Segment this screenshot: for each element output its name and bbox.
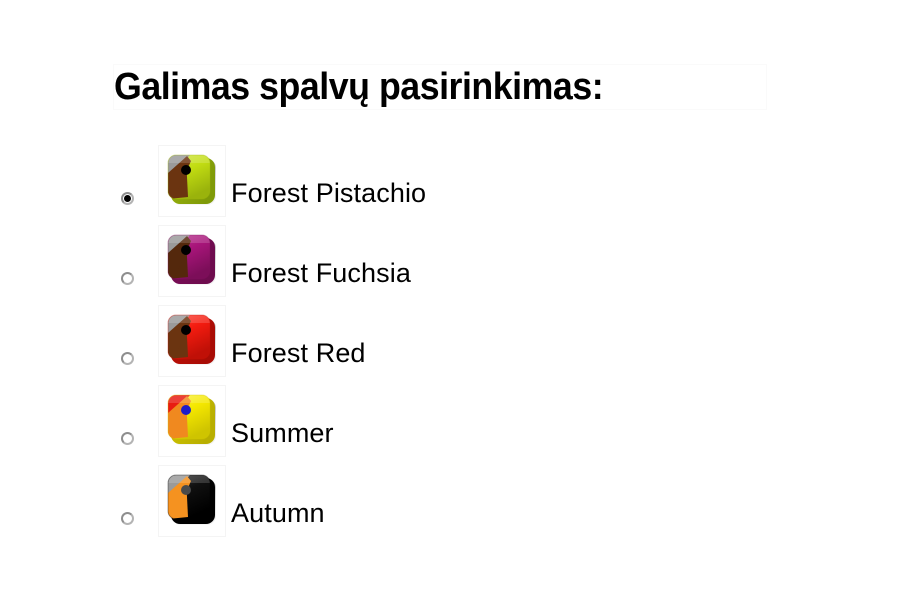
swatch-cell-summer: [158, 385, 226, 457]
swatch-graphic: [166, 313, 220, 369]
swatch-cell-forest-red: [158, 305, 226, 377]
color-swatch-forest-pistachio-icon: [166, 153, 220, 209]
radio-forest-fuchsia[interactable]: [121, 272, 134, 285]
swatch-graphic: [166, 473, 220, 529]
label-autumn: Autumn: [231, 498, 325, 528]
color-swatch-forest-red-icon: [166, 313, 220, 369]
swatch-graphic: [166, 153, 220, 209]
color-swatch-forest-fuchsia-icon: [166, 233, 220, 289]
color-option-row-summer[interactable]: Summer: [0, 380, 923, 460]
page-title-text: Galimas spalvų pasirinkimas:: [114, 67, 603, 107]
color-option-row-autumn[interactable]: Autumn: [0, 460, 923, 540]
swatch-cell-forest-pistachio: [158, 145, 226, 217]
color-option-row-forest-fuchsia[interactable]: Forest Fuchsia: [0, 220, 923, 300]
color-swatch-summer-icon: [166, 393, 220, 449]
color-swatch-autumn-icon: [166, 473, 220, 529]
radio-forest-red[interactable]: [121, 352, 134, 365]
color-option-row-forest-pistachio[interactable]: Forest Pistachio: [0, 140, 923, 220]
swatch-graphic: [166, 393, 220, 449]
label-forest-pistachio: Forest Pistachio: [231, 178, 426, 208]
label-forest-red: Forest Red: [231, 338, 366, 368]
swatch-graphic: [166, 233, 220, 289]
radio-summer[interactable]: [121, 432, 134, 445]
color-option-row-forest-red[interactable]: Forest Red: [0, 300, 923, 380]
swatch-cell-forest-fuchsia: [158, 225, 226, 297]
radio-autumn[interactable]: [121, 512, 134, 525]
page-title: Galimas spalvų pasirinkimas:: [113, 64, 767, 110]
label-summer: Summer: [231, 418, 334, 448]
radio-forest-pistachio[interactable]: [121, 192, 134, 205]
label-forest-fuchsia: Forest Fuchsia: [231, 258, 411, 288]
swatch-cell-autumn: [158, 465, 226, 537]
color-options-list: Forest Pistachio: [0, 140, 923, 540]
